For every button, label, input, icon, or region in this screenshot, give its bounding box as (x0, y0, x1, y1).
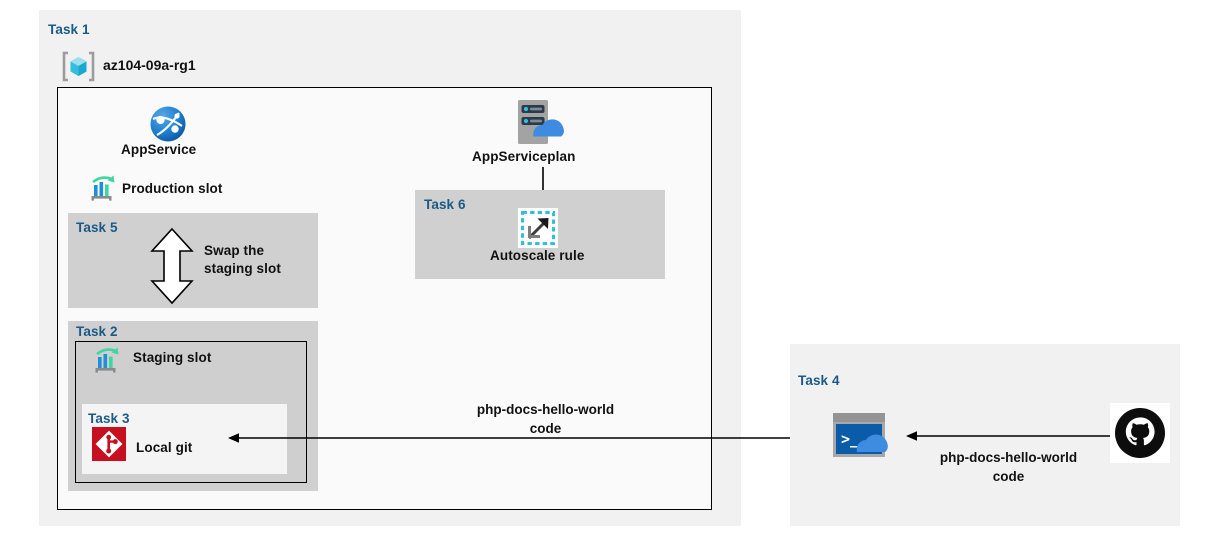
task3-label: Task 3 (88, 411, 130, 426)
local-git-label: Local git (136, 440, 192, 455)
app-service-plan-icon (510, 98, 572, 148)
diagram-canvas: Task 1 az104-09a-rg1 (0, 0, 1218, 545)
git-icon (92, 427, 126, 461)
production-slot-label: Production slot (122, 181, 223, 196)
resource-group-name: az104-09a-rg1 (103, 57, 196, 73)
task5-label: Task 5 (76, 220, 118, 235)
task6-label: Task 6 (424, 197, 466, 212)
github-to-cloudshell-label: php-docs-hello-world code (906, 449, 1111, 487)
autoscale-label: Autoscale rule (490, 248, 584, 263)
github-transfer-line2: code (993, 469, 1025, 484)
production-slot-icon (88, 173, 118, 203)
task1-label: Task 1 (48, 22, 90, 37)
autoscale-icon (518, 208, 558, 248)
task4-label: Task 4 (798, 373, 840, 388)
swap-double-arrow-icon (146, 227, 198, 305)
appserviceplan-label: AppServiceplan (472, 149, 575, 164)
staging-slot-label: Staging slot (133, 350, 211, 365)
cloudshell-to-localgit-arrow (228, 430, 814, 446)
app-service-globe-icon (148, 104, 188, 144)
github-transfer-line1: php-docs-hello-world (940, 450, 1077, 465)
github-octocat-icon (1110, 403, 1170, 463)
github-to-cloudshell-arrow (906, 428, 1114, 444)
task5-action-label: Swap the staging slot (204, 242, 324, 278)
cloud-shell-icon: >_ (831, 411, 901, 461)
svg-text:>_: >_ (841, 430, 860, 448)
appservice-label: AppService (121, 142, 196, 157)
task5-action-line2: staging slot (204, 261, 281, 276)
resource-group-icon (61, 49, 96, 84)
staging-slot-icon (92, 345, 122, 375)
transfer-label-line1: php-docs-hello-world (477, 402, 614, 417)
task2-label: Task 2 (76, 324, 118, 339)
task5-action-line1: Swap the (204, 243, 264, 258)
